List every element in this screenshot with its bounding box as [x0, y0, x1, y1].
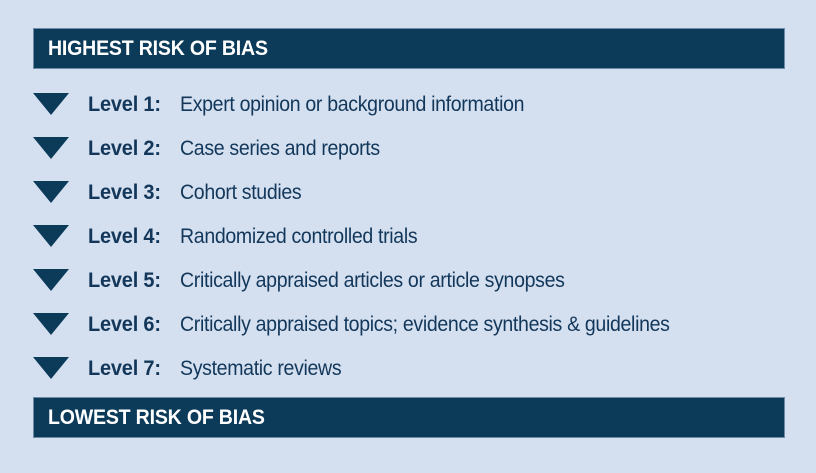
list-item: Level 4: Randomized controlled trials	[0, 214, 816, 258]
level-label: Level 5:	[88, 270, 161, 291]
level-description: Critically appraised articles or article…	[180, 270, 565, 291]
down-triangle-icon	[33, 357, 69, 379]
down-triangle-icon	[33, 137, 69, 159]
down-triangle-icon	[33, 313, 69, 335]
lowest-risk-banner-label: LOWEST RISK OF BIAS	[48, 407, 265, 428]
list-item: Level 3: Cohort studies	[0, 170, 816, 214]
level-description: Critically appraised topics; evidence sy…	[180, 314, 670, 335]
list-item: Level 7: Systematic reviews	[0, 346, 816, 390]
level-description: Expert opinion or background information	[180, 94, 524, 115]
level-label: Level 1:	[88, 94, 161, 115]
highest-risk-banner: HIGHEST RISK OF BIAS	[33, 28, 785, 69]
level-description: Systematic reviews	[180, 358, 341, 379]
level-label: Level 3:	[88, 182, 161, 203]
list-item: Level 1: Expert opinion or background in…	[0, 82, 816, 126]
down-triangle-icon	[33, 181, 69, 203]
down-triangle-icon	[33, 269, 69, 291]
level-list: Level 1: Expert opinion or background in…	[0, 82, 816, 390]
list-item: Level 6: Critically appraised topics; ev…	[0, 302, 816, 346]
level-description: Case series and reports	[180, 138, 380, 159]
down-triangle-icon	[33, 225, 69, 247]
level-label: Level 4:	[88, 226, 161, 247]
level-description: Cohort studies	[180, 182, 301, 203]
level-label: Level 6:	[88, 314, 161, 335]
level-label: Level 2:	[88, 138, 161, 159]
highest-risk-banner-label: HIGHEST RISK OF BIAS	[48, 38, 268, 59]
list-item: Level 5: Critically appraised articles o…	[0, 258, 816, 302]
list-item: Level 2: Case series and reports	[0, 126, 816, 170]
level-description: Randomized controlled trials	[180, 226, 417, 247]
level-label: Level 7:	[88, 358, 161, 379]
down-triangle-icon	[33, 93, 69, 115]
evidence-hierarchy-figure: HIGHEST RISK OF BIAS Level 1: Expert opi…	[0, 0, 816, 473]
lowest-risk-banner: LOWEST RISK OF BIAS	[33, 397, 785, 438]
